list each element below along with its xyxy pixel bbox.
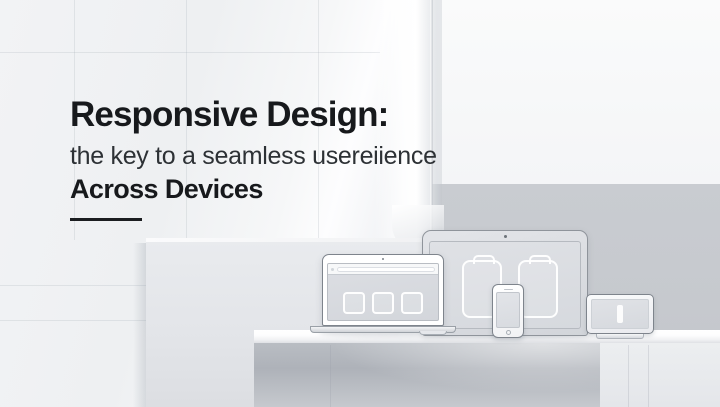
device-tablet[interactable] [586, 294, 654, 334]
device-smartphone[interactable] [492, 284, 524, 338]
floor-seam [628, 345, 629, 407]
wall-seam [0, 52, 380, 53]
headline-subtitle: the key to a seamless usereiience [70, 141, 540, 172]
device-laptop[interactable] [322, 254, 444, 326]
laptop-content-card [343, 292, 365, 314]
url-bar[interactable] [337, 267, 435, 272]
headline-tertiary: Across Devices [70, 175, 540, 205]
tablet-stand [596, 334, 644, 339]
wall-seam [0, 320, 146, 321]
shelf-right-panel [600, 343, 720, 407]
monitor-content-block-cap [473, 255, 495, 264]
earpiece-speaker-icon [504, 289, 513, 291]
laptop-screen [327, 263, 439, 321]
home-button-icon[interactable] [506, 330, 511, 335]
laptop-hinge-notch [419, 331, 447, 335]
webcam-icon [504, 235, 507, 238]
webcam-icon [382, 258, 384, 260]
laptop-card-row [328, 292, 438, 314]
monitor-content-block [518, 260, 558, 318]
laptop-content-card [401, 292, 423, 314]
headline-block: Responsive Design: the key to a seamless… [70, 96, 540, 221]
monitor-content-block-cap [529, 255, 551, 264]
laptop-content-card [372, 292, 394, 314]
wall-seam [0, 285, 146, 286]
hero-banner: Responsive Design: the key to a seamless… [0, 0, 720, 407]
browser-toolbar [328, 264, 438, 275]
accent-rule [70, 218, 142, 221]
tablet-content-divider [617, 305, 623, 323]
pedestal-top-edge [146, 238, 446, 242]
floor-seam [330, 345, 331, 407]
phone-screen [496, 292, 520, 328]
floor-seam [648, 345, 649, 407]
window-dot-icon [331, 268, 334, 271]
tablet-screen [591, 299, 649, 329]
headline-primary: Responsive Design: [70, 96, 540, 133]
